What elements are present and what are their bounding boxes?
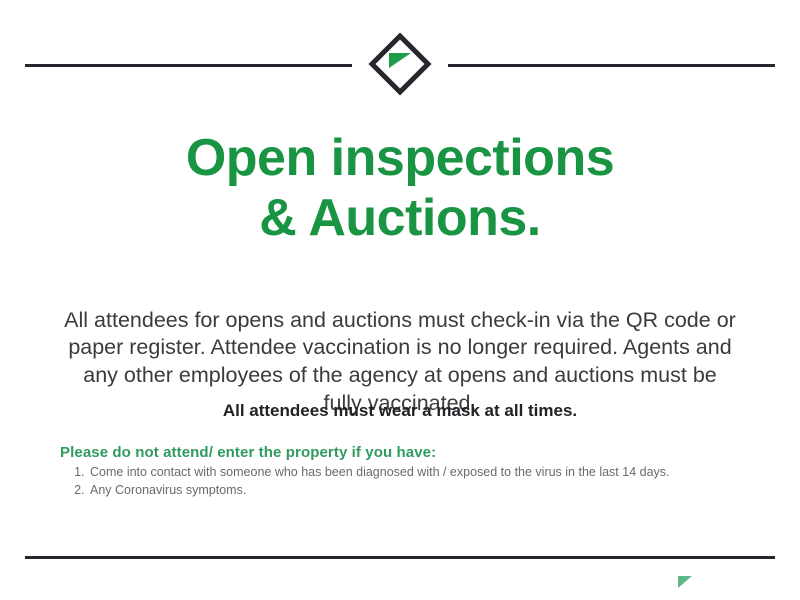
list-item: Come into contact with someone who has b… (88, 464, 780, 482)
footer-divider-line (25, 556, 775, 559)
mask-notice: All attendees must wear a mask at all ti… (0, 401, 800, 421)
pennant-mark-icon (676, 573, 694, 591)
poster-canvas: Open inspections & Auctions. All attende… (0, 0, 800, 600)
page-title-line-2: & Auctions. (0, 188, 800, 248)
diamond-pennant-logo-icon (368, 32, 432, 96)
divider-line-right (448, 64, 775, 67)
page-title-line-1: Open inspections (186, 129, 614, 187)
divider-line-left (25, 64, 352, 67)
do-not-attend-block: Please do not attend/ enter the property… (60, 444, 780, 500)
header-divider-band (0, 42, 800, 90)
page-title: Open inspections & Auctions. (0, 128, 800, 249)
list-item: Any Coronavirus symptoms. (88, 482, 780, 500)
do-not-attend-heading: Please do not attend/ enter the property… (60, 444, 780, 461)
do-not-attend-list: Come into contact with someone who has b… (60, 464, 780, 500)
